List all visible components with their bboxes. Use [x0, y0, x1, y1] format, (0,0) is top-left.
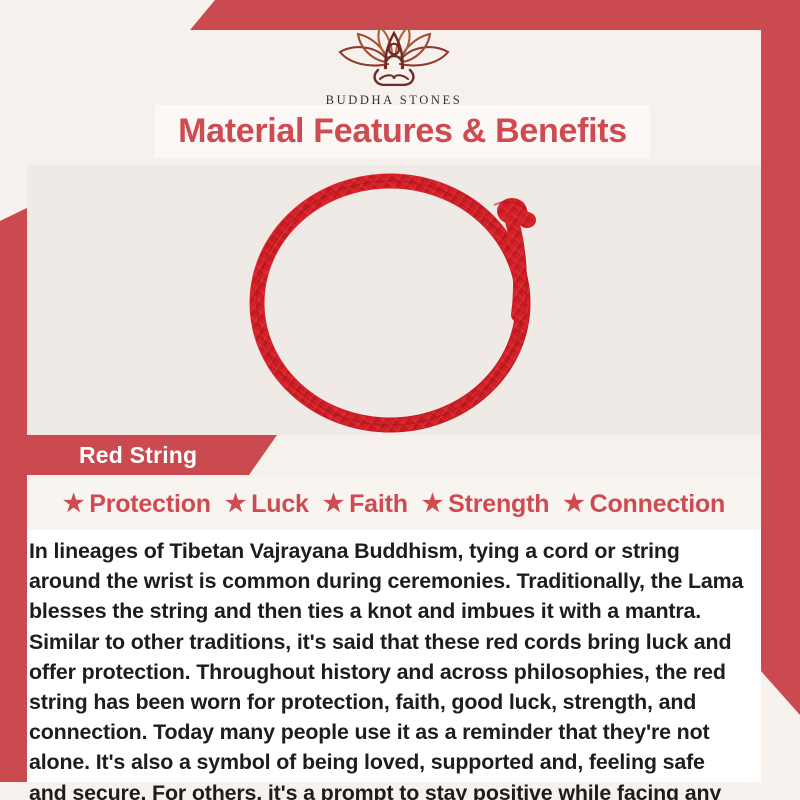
description-paragraph: In lineages of Tibetan Vajrayana Buddhis…: [29, 536, 747, 800]
poster: BUDDHA STONES Material Features & Benefi…: [0, 0, 800, 800]
benefit-label: Connection: [590, 490, 726, 519]
red-string-bracelet-image: [194, 165, 594, 435]
benefit-item-0: ★ Protection: [63, 490, 211, 519]
content-card: BUDDHA STONES Material Features & Benefi…: [27, 30, 761, 782]
star-icon: ★: [225, 492, 246, 516]
page-title-band: Material Features & Benefits: [155, 105, 650, 158]
product-photo: [27, 165, 761, 435]
star-icon: ★: [63, 492, 84, 516]
benefit-item-1: ★ Luck: [225, 490, 309, 519]
decor-bar-right: [760, 0, 800, 715]
description-block: In lineages of Tibetan Vajrayana Buddhis…: [27, 530, 761, 782]
star-icon: ★: [422, 492, 443, 516]
benefits-row: ★ Protection ★ Luck ★ Faith ★ Strength ★…: [27, 478, 761, 530]
benefit-item-3: ★ Strength: [422, 490, 550, 519]
benefit-item-4: ★ Connection: [563, 490, 725, 519]
benefit-label: Luck: [251, 490, 309, 519]
benefit-label: Protection: [89, 490, 211, 519]
brand-header: BUDDHA STONES: [27, 30, 761, 102]
benefit-label: Strength: [448, 490, 549, 519]
star-icon: ★: [563, 492, 584, 516]
benefit-label: Faith: [349, 490, 408, 519]
benefit-item-2: ★ Faith: [323, 490, 408, 519]
page-title: Material Features & Benefits: [178, 112, 627, 151]
material-name: Red String: [27, 442, 197, 469]
lotus-meditation-icon: [328, 24, 460, 91]
star-icon: ★: [323, 492, 344, 516]
material-ribbon: Red String: [27, 435, 277, 475]
